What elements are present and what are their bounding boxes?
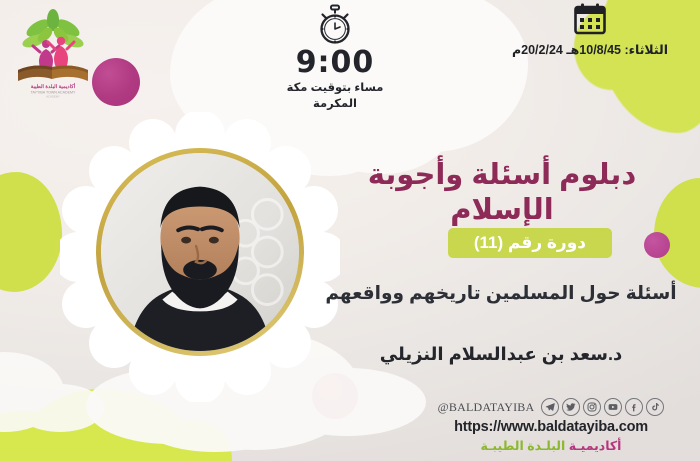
portrait-frame: [60, 112, 340, 402]
social-handle: @BALDATAYIBA: [438, 400, 535, 415]
page-title: دبلوم أسئلة وأجوبة الإسلام: [322, 158, 682, 228]
course-number-badge: دورة رقم (11): [448, 228, 612, 258]
logo-arabic-caption: أكاديمية البلدة الطيبة: [31, 82, 76, 90]
stopwatch-icon: [270, 4, 400, 46]
promo-poster: أكاديمية البلدة الطيبة TAYYIBA TOWN ACAD…: [0, 0, 700, 461]
website-url[interactable]: https://www.baldatayiba.com: [416, 419, 686, 435]
calendar-icon: [490, 2, 690, 36]
date-value: الثلاثاء: 10/8/45هـ 20/2/24م: [490, 42, 690, 57]
open-book-icon: [18, 66, 88, 81]
social-row: @BALDATAYIBA: [416, 398, 686, 416]
time-note: مساء بتوقيت مكة المكرمة: [270, 81, 400, 112]
tree-leaves-icon: [21, 9, 85, 50]
twitter-icon[interactable]: [562, 398, 580, 416]
instagram-icon[interactable]: [583, 398, 601, 416]
youtube-icon[interactable]: [604, 398, 622, 416]
green-blob-bottom-corner: [0, 411, 80, 461]
academy-name-pink: أكاديميـة: [569, 439, 622, 453]
academy-name-green: البلـدة الطيبـة: [481, 439, 566, 453]
subtitle: أسئلة حول المسلمين تاريخهم وواقعهم: [322, 281, 680, 306]
time-value: 9:00: [270, 48, 400, 78]
tiktok-icon[interactable]: [646, 398, 664, 416]
speaker-name: د.سعد بن عبدالسلام النزيلي: [322, 344, 680, 365]
academy-logo: أكاديمية البلدة الطيبة TAYYIBA TOWN ACAD…: [12, 8, 94, 98]
speaker-portrait: [101, 153, 299, 351]
portrait-gold-ring: [96, 148, 304, 356]
telegram-icon[interactable]: [541, 398, 559, 416]
magenta-dot-right: [644, 232, 670, 258]
white-cloud-left: [0, 352, 64, 432]
logo-sub-caption: ACADEMY: [46, 95, 60, 99]
footer: @BALDATAYIBA https://www.baldatayiba.com: [416, 398, 686, 453]
green-blob-mid-left: [0, 172, 62, 292]
date-block: الثلاثاء: 10/8/45هـ 20/2/24م: [490, 2, 690, 57]
facebook-icon[interactable]: [625, 398, 643, 416]
time-block: 9:00 مساء بتوقيت مكة المكرمة: [270, 4, 400, 112]
magenta-dot-top-left: [92, 58, 140, 106]
academy-name: أكاديميـة البلـدة الطيبـة: [416, 438, 686, 453]
